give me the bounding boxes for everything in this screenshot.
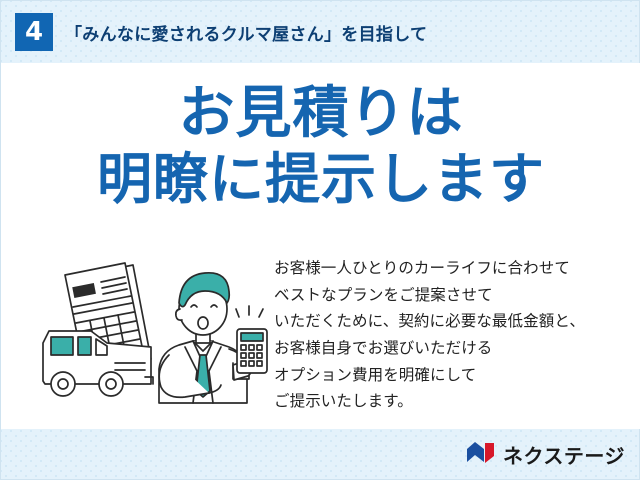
footer-bar: ネクステージ xyxy=(1,429,640,480)
body-copy-line-6: ご提示いたします。 xyxy=(274,388,624,415)
body-copy-line-4: お客様自身でお選びいただける xyxy=(274,335,624,362)
body-copy-line-2: ベストなプランをご提案させて xyxy=(274,282,624,309)
brand-lockup: ネクステージ xyxy=(466,440,625,469)
nextage-logo-icon xyxy=(466,441,496,468)
illustration-salesman-estimate xyxy=(33,251,273,406)
headline-line-1: お見積りは xyxy=(1,81,640,147)
header-bar: 4 「みんなに愛されるクルマ屋さん」を目指して xyxy=(1,1,640,63)
body-copy: お客様一人ひとりのカーライフに合わせて ベストなプランをご提案させて いただくた… xyxy=(274,255,624,415)
advertisement-root: 4 「みんなに愛されるクルマ屋さん」を目指して お見積りは 明瞭に提示します xyxy=(0,0,640,480)
step-number-badge: 4 xyxy=(15,13,53,51)
brand-name: ネクステージ xyxy=(503,440,625,469)
header-title: 「みんなに愛されるクルマ屋さん」を目指して xyxy=(65,20,427,45)
content-panel: お見積りは 明瞭に提示します xyxy=(1,63,640,429)
headline-line-2: 明瞭に提示します xyxy=(1,147,640,212)
calculator-icon xyxy=(236,306,267,373)
body-copy-line-1: お客様一人ひとりのカーライフに合わせて xyxy=(274,255,624,282)
body-copy-line-3: いただくために、契約に必要な最低金額と、 xyxy=(274,308,624,335)
headline: お見積りは 明瞭に提示します xyxy=(1,81,640,212)
illustration-svg xyxy=(33,251,273,406)
body-copy-line-5: オプション費用を明確にして xyxy=(274,362,624,389)
